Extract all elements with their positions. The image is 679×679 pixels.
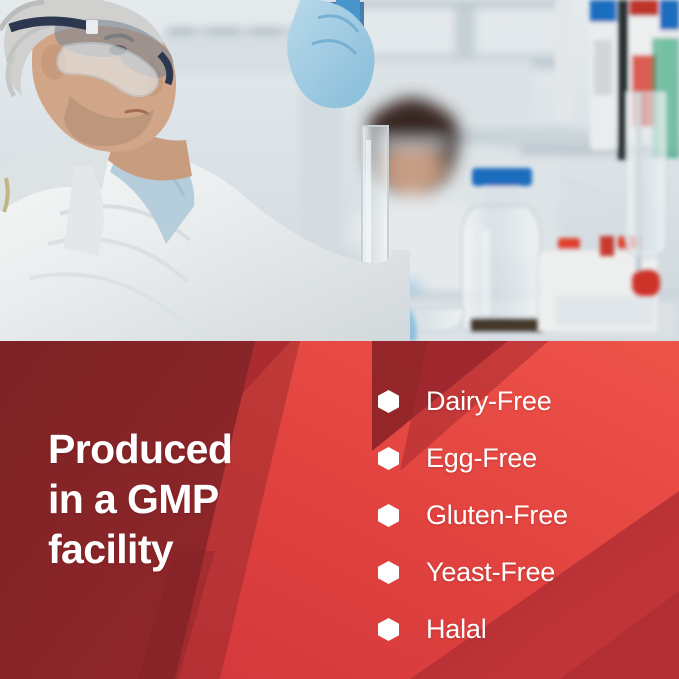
feature-label: Egg-Free <box>426 445 537 472</box>
list-item: Dairy-Free <box>378 373 668 430</box>
feature-label: Gluten-Free <box>426 502 568 529</box>
red-feature-panel: Produced in a GMP facility Dairy-Free Eg… <box>0 341 679 679</box>
laboratory-photo <box>0 0 679 341</box>
headline-line-1: Produced <box>48 424 348 474</box>
page-title: Produced in a GMP facility <box>48 424 348 574</box>
hexagon-bullet-icon <box>378 504 399 527</box>
list-item: Halal <box>378 601 668 658</box>
feature-label: Yeast-Free <box>426 559 555 586</box>
headline-line-2: in a GMP <box>48 474 348 524</box>
list-item: Egg-Free <box>378 430 668 487</box>
feature-label: Halal <box>426 616 487 643</box>
gmp-facility-banner: Produced in a GMP facility Dairy-Free Eg… <box>0 0 679 679</box>
laboratory-photo-illustration <box>0 0 679 341</box>
hexagon-bullet-icon <box>378 618 399 641</box>
list-item: Yeast-Free <box>378 544 668 601</box>
hexagon-bullet-icon <box>378 447 399 470</box>
headline-line-3: facility <box>48 524 348 574</box>
hexagon-bullet-icon <box>378 390 399 413</box>
feature-label: Dairy-Free <box>426 388 552 415</box>
feature-list: Dairy-Free Egg-Free Gluten-Free Yeast-Fr… <box>378 373 668 658</box>
list-item: Gluten-Free <box>378 487 668 544</box>
hexagon-bullet-icon <box>378 561 399 584</box>
